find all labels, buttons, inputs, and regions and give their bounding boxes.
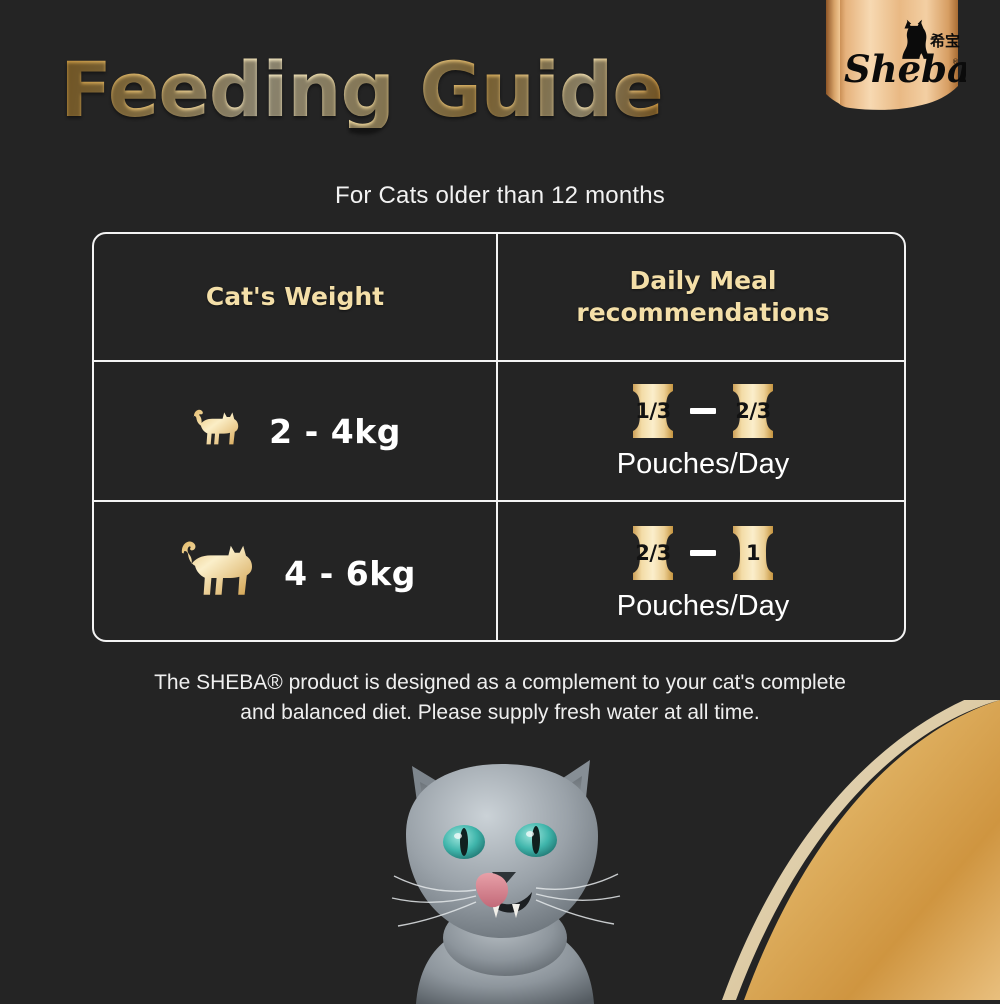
pouch-unit-label: Pouches/Day: [617, 590, 790, 623]
table-row: 4 - 6kg: [94, 502, 498, 642]
column-header-label: Cat's Weight: [206, 281, 384, 313]
sheba-banner-icon: Sheba 希宝 ®: [826, 0, 966, 118]
brand-wordmark: Sheba: [844, 47, 966, 91]
page-title-wrapper: Feeding Guide: [60, 52, 663, 128]
pouch-range: 1/3 2/3: [630, 382, 776, 440]
cat-eye-highlight-left: [454, 833, 462, 839]
disclaimer-line-1: The SHEBA® product is designed as a comp…: [90, 668, 910, 698]
pouch-fraction-min: 1/3: [635, 399, 670, 423]
cat-pupil-right: [532, 826, 540, 854]
pouch-fraction-max: 2/3: [735, 399, 770, 423]
cat-eye-highlight-right: [526, 831, 534, 837]
pouch-icon-max: 2/3: [730, 382, 776, 440]
page-title: Feeding Guide: [60, 52, 663, 128]
weight-value: 2 - 4kg: [269, 412, 401, 451]
pouch-unit-label: Pouches/Day: [617, 448, 790, 481]
small-cat-icon: [189, 407, 251, 455]
pouch-icon-max: 1: [730, 524, 776, 582]
pouch-fraction-min: 2/3: [635, 541, 670, 565]
pouch-icon-min: 1/3: [630, 382, 676, 440]
weight-value: 4 - 6kg: [284, 554, 416, 593]
table-row: 2/3 1 Pouches/Day: [498, 502, 906, 642]
column-header-label: Daily Meal recommendations: [576, 265, 829, 329]
feeding-guide-table: Cat's Weight Daily Meal recommendations …: [92, 232, 906, 642]
column-header-line1: Daily Meal: [576, 265, 829, 297]
range-separator-icon: [690, 550, 716, 556]
cat-pupil-left: [460, 828, 468, 856]
pouch-range: 2/3 1: [630, 524, 776, 582]
corner-swoosh-decoration: [670, 700, 1000, 1000]
large-cat-icon: [174, 537, 266, 609]
table-row: 1/3 2/3 Pouches/Day: [498, 362, 906, 502]
range-separator-icon: [690, 408, 716, 414]
brand-wordmark-cjk: 希宝: [930, 32, 960, 50]
table-row: 2 - 4kg: [94, 362, 498, 502]
pouch-icon-min: 2/3: [630, 524, 676, 582]
page-subtitle: For Cats older than 12 months: [0, 182, 1000, 210]
table-header-meal: Daily Meal recommendations: [498, 234, 906, 362]
column-header-line2: recommendations: [576, 297, 829, 329]
registered-mark: ®: [952, 58, 959, 66]
brand-logo: Sheba 希宝 ®: [826, 0, 966, 118]
table-header-weight: Cat's Weight: [94, 234, 498, 362]
pouch-fraction-max: 1: [746, 541, 760, 565]
cat-photo: [360, 742, 650, 1004]
cat-head: [406, 764, 598, 938]
